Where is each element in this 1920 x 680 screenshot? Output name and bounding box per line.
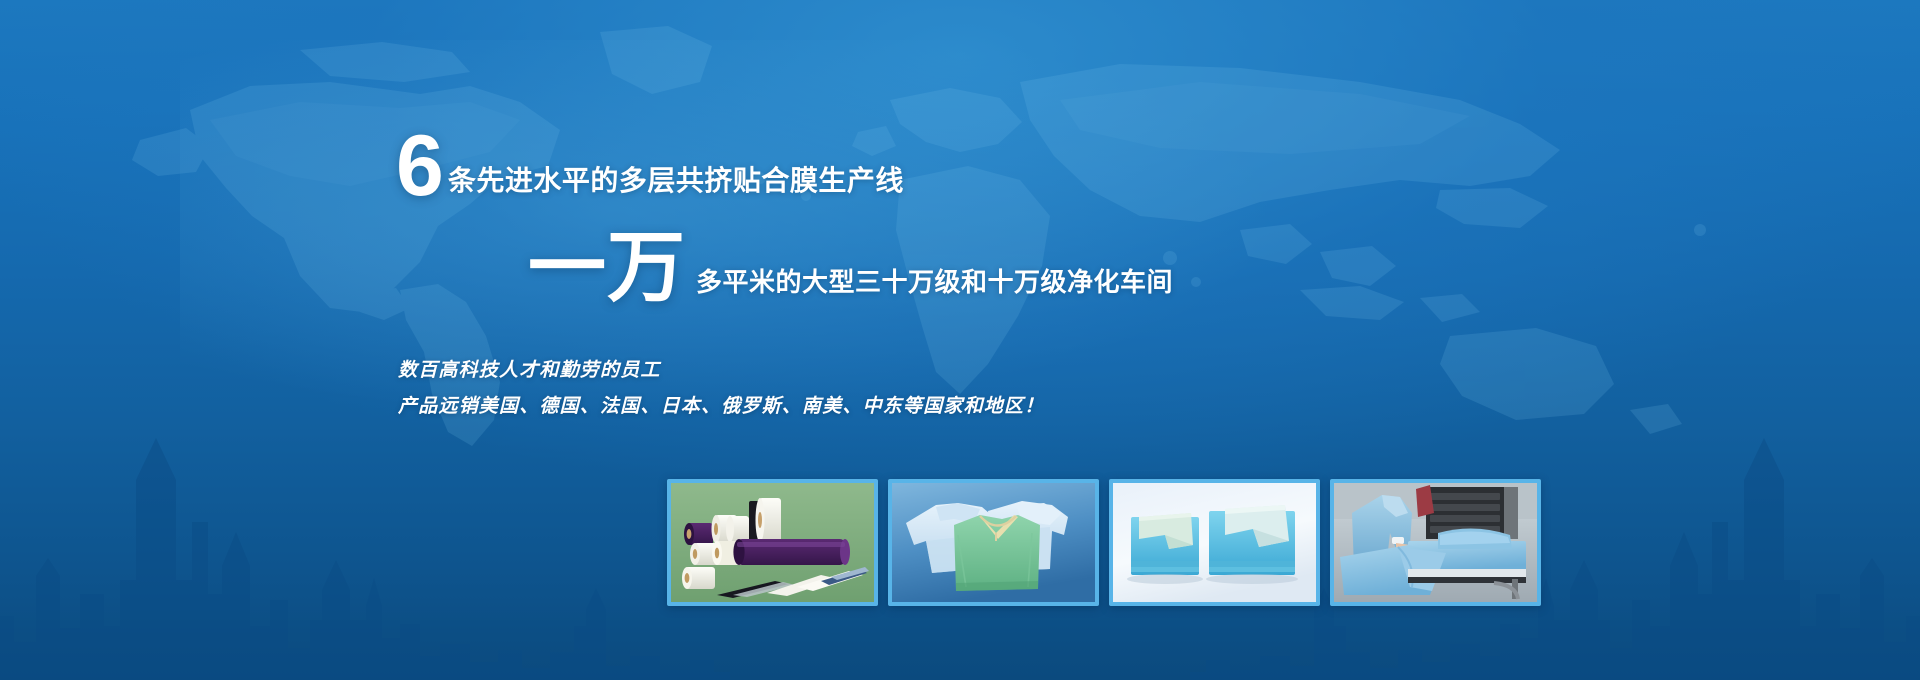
operating-room-image	[1334, 483, 1537, 602]
subtext-line-1: 数百高科技人才和勤劳的员工	[398, 355, 661, 382]
subtext-line-2: 产品远销美国、德国、法国、日本、俄罗斯、南美、中东等国家和地区！	[398, 391, 1044, 418]
promo-banner: 6 条先进水平的多层共挤贴合膜生产线 一万 多平米的大型三十万级和十万级净化车间…	[0, 0, 1920, 680]
film-rolls-image	[671, 483, 874, 602]
headline-phrase-1: 条先进水平的多层共挤贴合膜生产线	[448, 159, 904, 202]
headline-number-1: 6	[396, 131, 442, 202]
headline-glow	[180, 40, 1280, 420]
headline-line-2: 一万 多平米的大型三十万级和十万级净化车间	[528, 234, 1173, 303]
medical-drapes-photo[interactable]	[1109, 479, 1320, 606]
surgical-gowns-image	[892, 483, 1095, 602]
city-skyline-left	[0, 380, 730, 680]
medical-drapes-image	[1113, 483, 1316, 602]
surgical-gowns-photo[interactable]	[888, 479, 1099, 606]
headline-line-1: 6 条先进水平的多层共挤贴合膜生产线	[396, 131, 904, 202]
product-photo-strip	[667, 479, 1541, 606]
film-rolls-photo[interactable]	[667, 479, 878, 606]
headline-phrase-2: 多平米的大型三十万级和十万级净化车间	[696, 262, 1173, 303]
headline-number-2: 一万	[528, 234, 686, 303]
operating-room-photo[interactable]	[1330, 479, 1541, 606]
world-map-watermark	[0, 0, 1920, 460]
